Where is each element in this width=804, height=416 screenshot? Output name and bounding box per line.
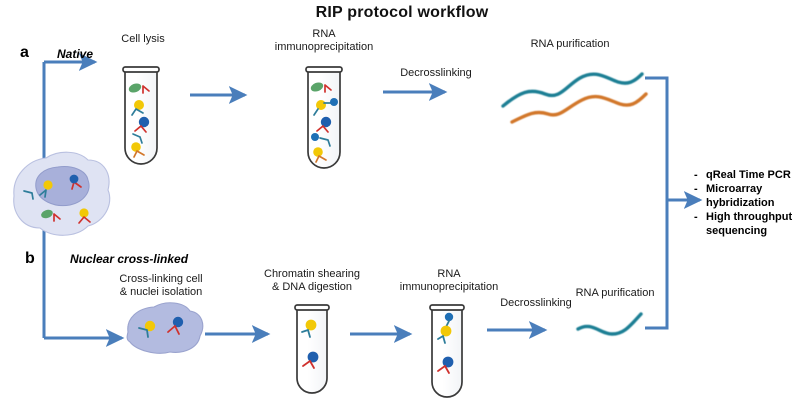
outputs-list: - qReal Time PCR - Microarray hybridizat…: [694, 168, 804, 238]
output-label-sequencing: High throughput sequencing: [706, 210, 792, 238]
list-item: - Microarray hybridization: [694, 182, 804, 210]
purified-rna-strand-b: [578, 314, 641, 334]
workflow-graphics: [0, 0, 804, 416]
bullet-dash: -: [694, 182, 700, 196]
step-label-crosslinking-cell: Cross-linking cell & nuclei isolation: [101, 273, 221, 299]
branch-label-native: Native: [57, 47, 93, 61]
rna-ip-tube-icon-b: [430, 305, 464, 397]
output-label-microarray: Microarray hybridization: [706, 182, 774, 210]
chromatin-shearing-tube-icon: [295, 305, 329, 393]
step-label-decrosslinking-a: Decrosslinking: [375, 67, 497, 80]
step-label-rna-purification-b: RNA purification: [560, 287, 670, 300]
rip-protocol-workflow-figure: RIP protocol workflow: [0, 0, 804, 416]
nuclei-isolation-cell-icon: [127, 303, 203, 353]
rna-ip-tube-icon-a: [306, 67, 342, 168]
bullet-dash: -: [694, 168, 700, 182]
panel-letter-b: b: [25, 250, 35, 268]
step-label-cell-lysis: Cell lysis: [101, 33, 185, 46]
purified-rna-strands-a: [503, 74, 646, 122]
step-label-rna-ip-b: RNA immunoprecipitation: [382, 268, 516, 294]
panel-letter-a: a: [20, 44, 29, 62]
output-label-qpcr: qReal Time PCR: [706, 168, 791, 182]
step-label-rna-ip-a: RNA immunoprecipitation: [250, 28, 398, 54]
bullet-dash: -: [694, 210, 700, 224]
step-label-rna-purification-a: RNA purification: [490, 38, 650, 51]
step-label-chromatin-shearing: Chromatin shearing & DNA digestion: [245, 268, 379, 294]
list-item: - High throughput sequencing: [694, 210, 804, 238]
cell-lysis-tube-icon: [123, 67, 159, 164]
list-item: - qReal Time PCR: [694, 168, 804, 182]
branch-label-nuclear-cross-linked: Nuclear cross-linked: [70, 252, 188, 266]
starting-cell-icon: [14, 152, 110, 235]
